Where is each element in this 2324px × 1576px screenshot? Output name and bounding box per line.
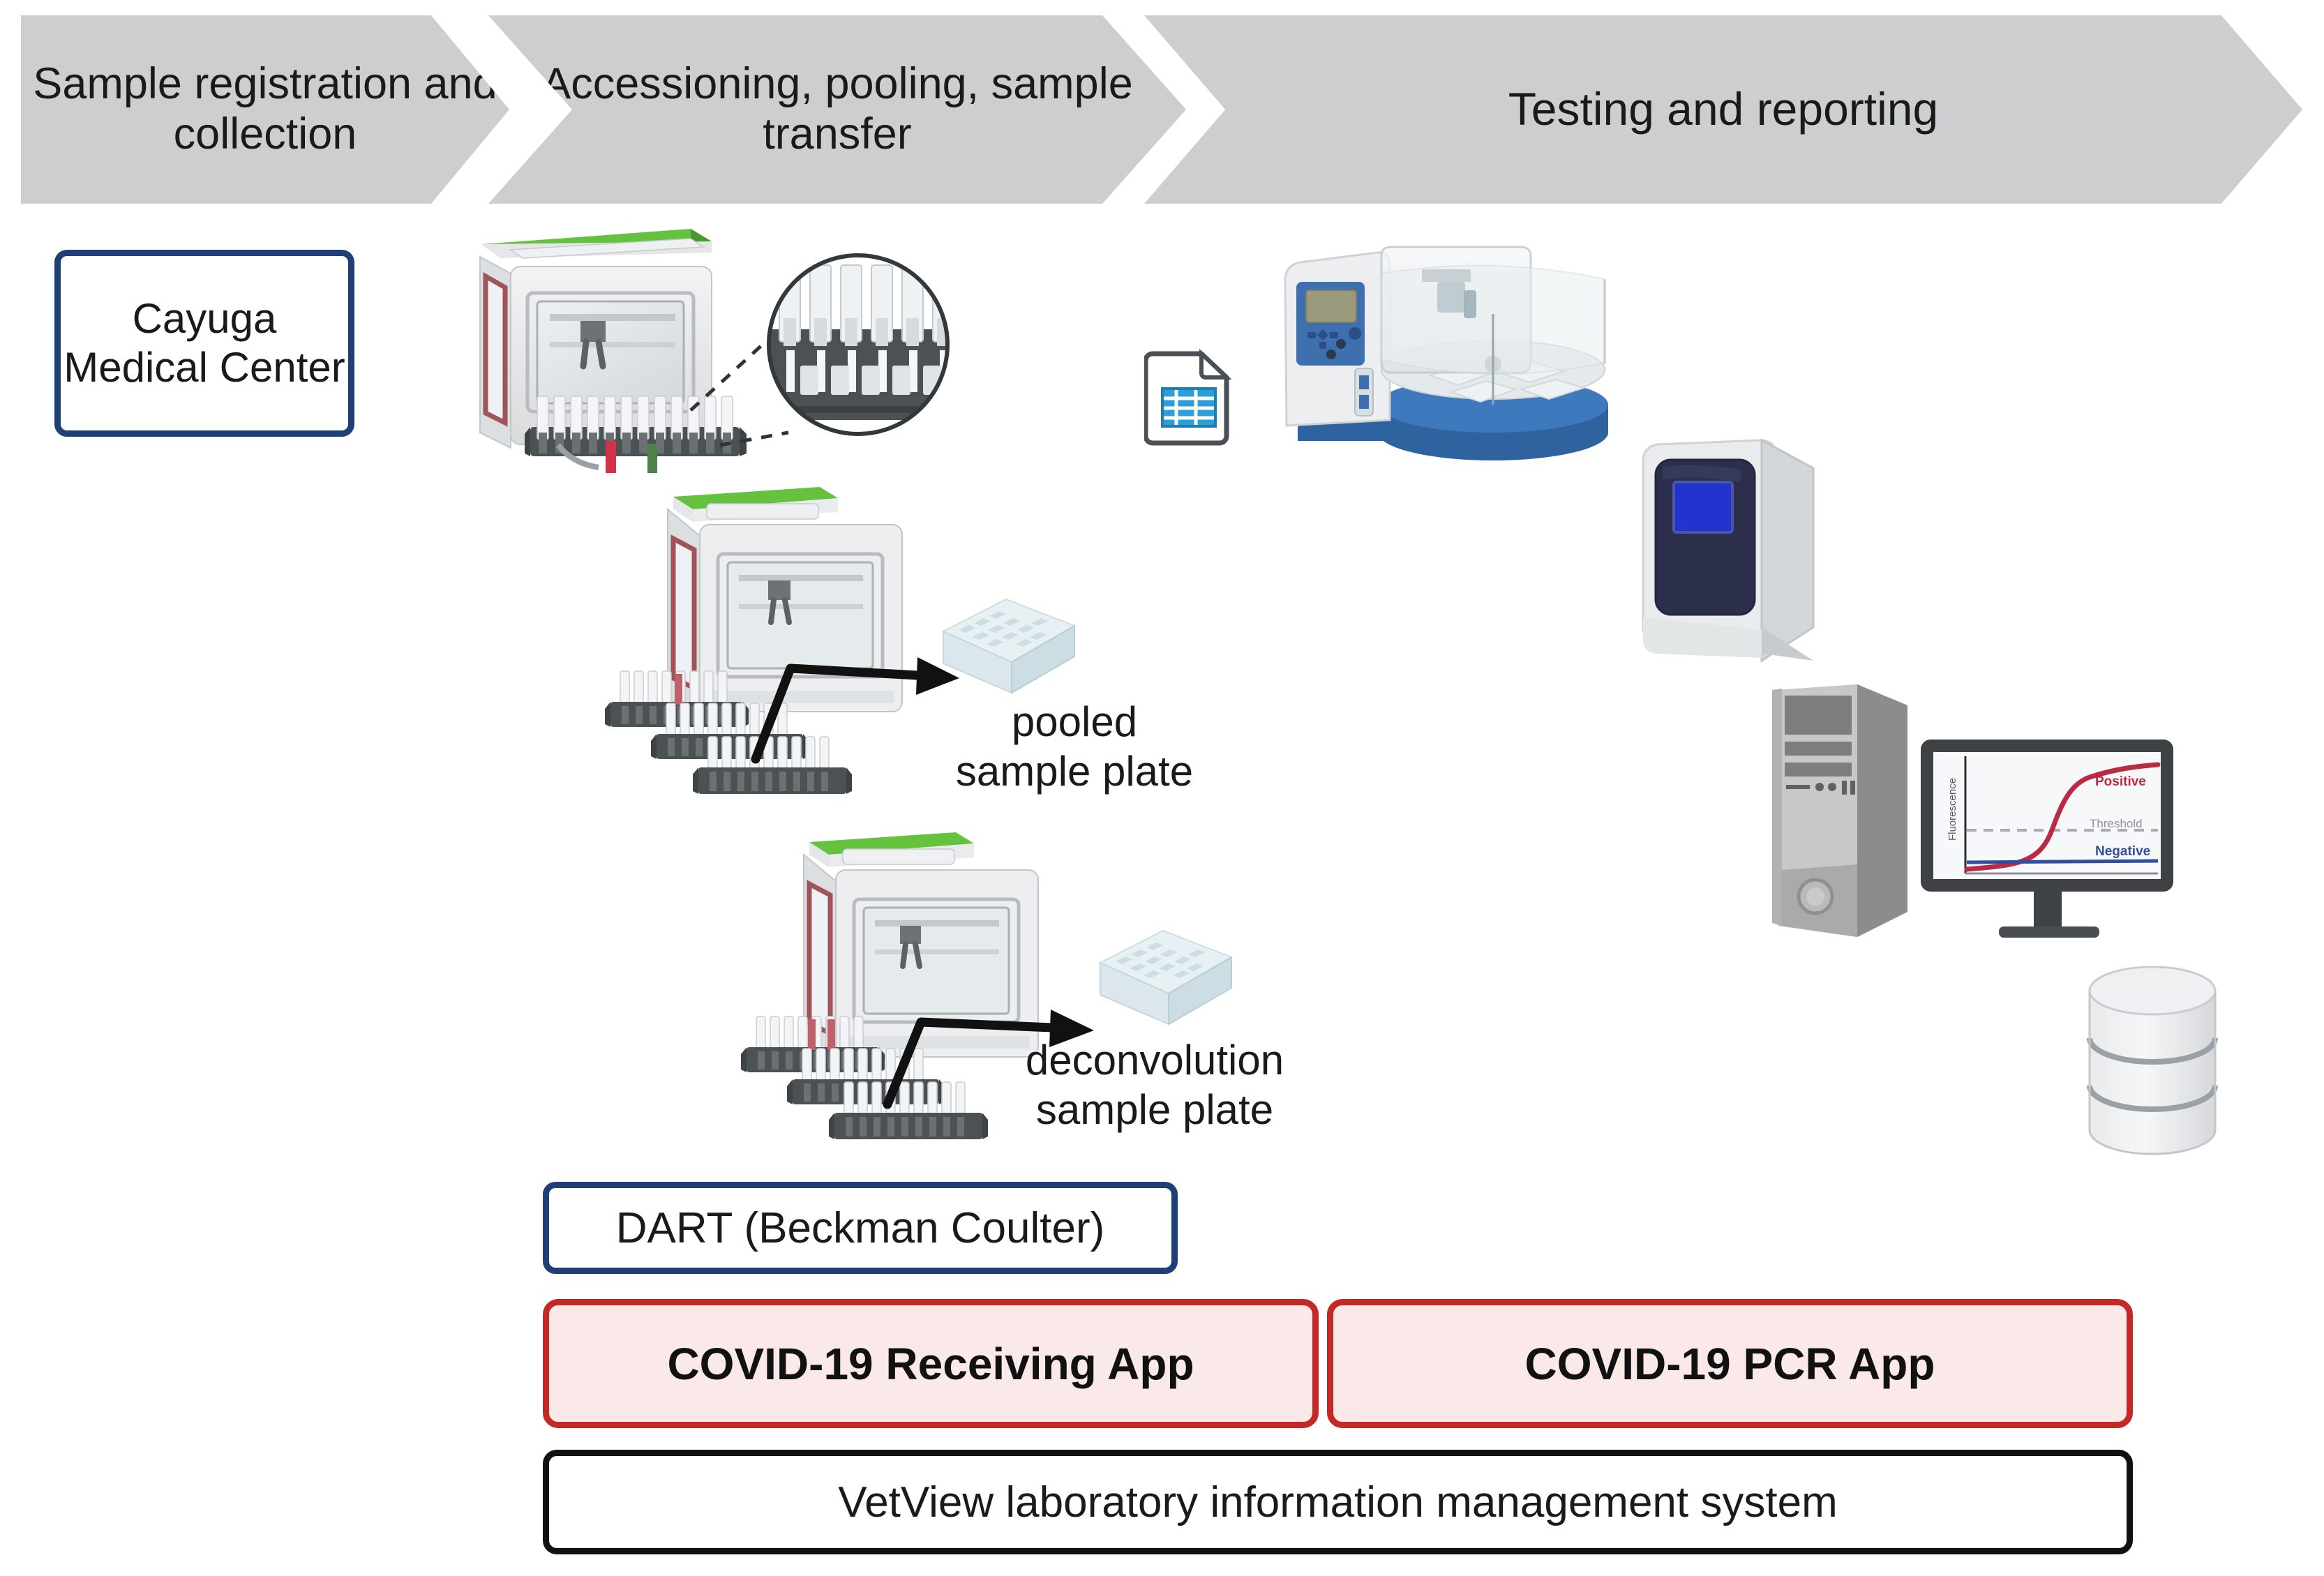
stage-chevron-sample-registration: Sample registration and collection <box>21 15 509 204</box>
platform-box: DART (Beckman Coulter) <box>543 1182 1178 1274</box>
stage-chevron-accessioning: Accessioning, pooling, sample transfer <box>488 15 1186 204</box>
caption-line-2: sample plate <box>928 747 1221 797</box>
caption-line-1: deconvolution <box>994 1036 1315 1086</box>
stage-label: Sample registration and collection <box>21 59 509 160</box>
pooled-plate-caption: pooled sample plate <box>928 698 1221 797</box>
lims-box: VetView laboratory information managemen… <box>543 1450 2133 1554</box>
organization-label: Cayuga Medical Center <box>61 294 348 391</box>
spreadsheet-file-icon <box>1144 345 1235 450</box>
organization-box: Cayuga Medical Center <box>54 250 354 437</box>
stage-chevron-testing: Testing and reporting <box>1144 15 2302 204</box>
plot-ylabel: Fluorescence <box>1947 778 1958 841</box>
lims-label: VetView laboratory information managemen… <box>838 1478 1837 1527</box>
app-label: COVID-19 PCR App <box>1525 1338 1935 1390</box>
app-box-receiving: COVID-19 Receiving App <box>543 1299 1319 1428</box>
monitor: Fluorescence Positive Threshold Negative <box>1915 726 2187 956</box>
app-box-pcr: COVID-19 PCR App <box>1327 1299 2133 1428</box>
database-icon <box>2076 956 2250 1165</box>
pooled-sample-plate <box>928 590 1088 712</box>
extraction-instrument <box>1277 230 1626 467</box>
app-label: COVID-19 Receiving App <box>667 1338 1194 1390</box>
plot-annotation-negative: Negative <box>2095 844 2150 859</box>
computer-tower <box>1765 680 1926 952</box>
workflow-diagram: Sample registration and collection Acces… <box>0 0 2324 1576</box>
stage-label: Accessioning, pooling, sample transfer <box>488 59 1186 160</box>
deconvolution-sample-plate <box>1085 921 1245 1043</box>
deconvolution-plate-caption: deconvolution sample plate <box>994 1036 1315 1135</box>
thermocycler <box>1601 436 1838 666</box>
stage-label: Testing and reporting <box>1508 83 1938 135</box>
plot-annotation-positive: Positive <box>2095 774 2146 789</box>
plot-annotation-threshold: Threshold <box>2090 817 2143 830</box>
tube-magnifier <box>757 246 959 448</box>
platform-label: DART (Beckman Coulter) <box>616 1203 1105 1253</box>
caption-line-2: sample plate <box>994 1086 1315 1135</box>
caption-line-1: pooled <box>928 698 1221 747</box>
